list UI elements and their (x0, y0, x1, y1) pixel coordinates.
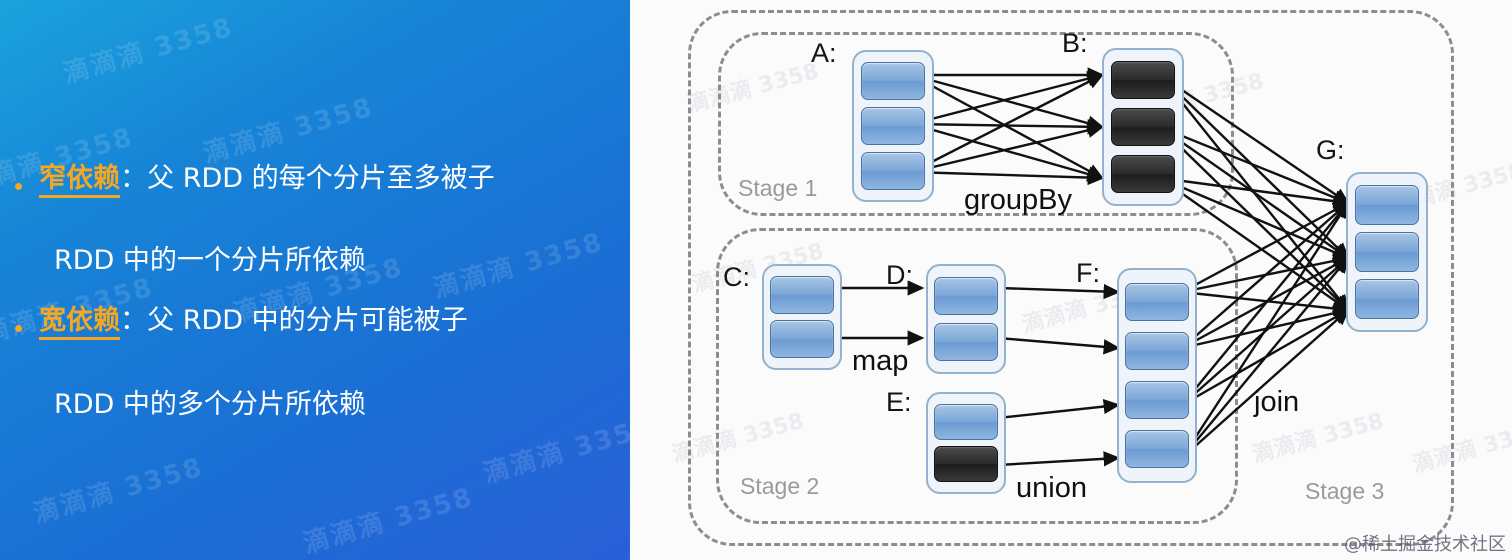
rdd-container-d[interactable] (926, 264, 1006, 374)
rdd-container-b[interactable] (1102, 48, 1184, 206)
bullet-text: 窄依赖：父 RDD 的每个分片至多被子 (39, 165, 495, 192)
rdd-label-e: E: (886, 387, 912, 418)
stage-label-stage2: Stage 2 (740, 473, 819, 500)
rdd-label-c: C: (723, 262, 750, 293)
operation-label-join: join (1254, 386, 1299, 419)
bullet-continuation-wide: RDD 中的多个分片所依赖 (54, 382, 366, 421)
partition[interactable] (1111, 155, 1175, 193)
partition[interactable] (934, 323, 998, 361)
rdd-container-a[interactable] (852, 50, 934, 202)
partition[interactable] (1111, 108, 1175, 146)
bullet-body: 父 RDD 中的分片可能被子 (147, 305, 468, 336)
rdd-label-f: F: (1076, 258, 1100, 289)
operation-label-groupby: groupBy (964, 184, 1072, 217)
partition[interactable] (861, 62, 925, 100)
source-credit-watermark: @稀土掘金技术社区 (1344, 530, 1506, 556)
bullet-body: 父 RDD 的每个分片至多被子 (147, 163, 495, 194)
rdd-container-f[interactable] (1117, 268, 1197, 483)
rdd-label-b: B: (1062, 28, 1088, 59)
keyword-narrow-dependency: 窄依赖 (39, 163, 120, 198)
partition[interactable] (1125, 283, 1189, 321)
background-watermark: 滴滴滴 3358 (58, 7, 237, 91)
rdd-container-c[interactable] (762, 264, 842, 370)
partition[interactable] (1355, 232, 1419, 272)
partition[interactable] (770, 320, 834, 358)
stage-label-stage3: Stage 3 (1305, 478, 1384, 505)
partition[interactable] (861, 107, 925, 145)
partition[interactable] (1125, 332, 1189, 370)
bullet-marker-icon: • (14, 173, 23, 199)
operation-label-union: union (1016, 472, 1087, 505)
background-watermark: 滴滴滴 3358 (198, 87, 377, 171)
bullet-marker-icon: • (14, 315, 23, 341)
partition[interactable] (1355, 185, 1419, 225)
bullet-item-narrow-dependency: • 窄依赖：父 RDD 的每个分片至多被子 (14, 165, 495, 199)
partition[interactable] (1355, 279, 1419, 319)
partition[interactable] (770, 276, 834, 314)
partition[interactable] (934, 404, 998, 440)
background-watermark: 滴滴滴 3358 (428, 222, 607, 306)
rdd-label-a: A: (811, 38, 837, 69)
rdd-label-g: G: (1316, 135, 1345, 166)
keyword-wide-dependency: 宽依赖 (39, 305, 120, 340)
left-text-panel: 滴滴滴 3358 滴滴滴 3358 滴滴滴 3358 滴滴滴 3358 滴滴滴 … (0, 0, 630, 560)
partition[interactable] (861, 152, 925, 190)
partition[interactable] (1125, 430, 1189, 468)
partition[interactable] (1111, 61, 1175, 99)
background-watermark: 滴滴滴 3358 (298, 477, 477, 560)
bullet-text: 宽依赖：父 RDD 中的分片可能被子 (39, 307, 468, 334)
rdd-label-d: D: (886, 260, 913, 291)
operation-label-map: map (852, 345, 908, 378)
bullet-separator: ： (120, 305, 147, 336)
bullet-item-wide-dependency: • 宽依赖：父 RDD 中的分片可能被子 (14, 307, 468, 341)
bullet-continuation-narrow: RDD 中的一个分片所依赖 (54, 238, 366, 277)
bullet-separator: ： (120, 163, 147, 194)
rdd-lineage-diagram: 滴滴滴 3358 滴滴滴 3358 滴滴滴 3358 滴滴滴 3358 滴滴滴 … (630, 0, 1512, 560)
rdd-container-e[interactable] (926, 392, 1006, 494)
background-watermark: 滴滴滴 3358 (28, 447, 207, 531)
partition[interactable] (934, 446, 998, 482)
stage-label-stage1: Stage 1 (738, 175, 817, 202)
partition[interactable] (934, 277, 998, 315)
rdd-container-g[interactable] (1346, 172, 1428, 332)
partition[interactable] (1125, 381, 1189, 419)
